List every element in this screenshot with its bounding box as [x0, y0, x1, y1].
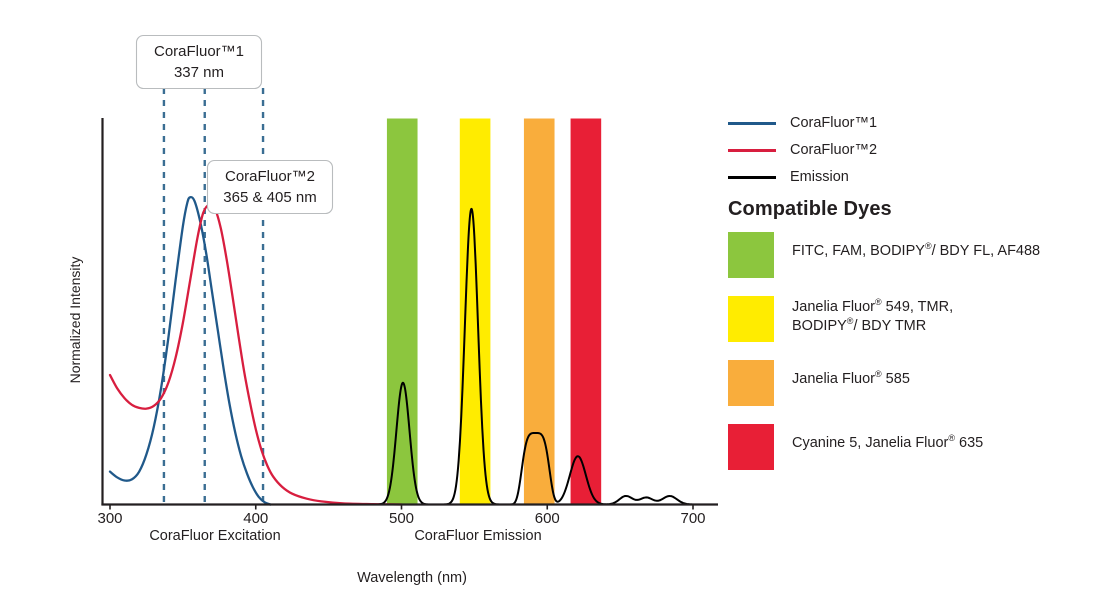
x-tick-label-700: 700 — [680, 510, 705, 527]
legend-item-0[interactable]: CoraFluor™1 — [728, 110, 1110, 137]
dye-item-label-line: Janelia Fluor® 585 — [792, 370, 910, 389]
callout-corafluor2-line2: 365 & 405 nm — [223, 189, 316, 206]
dye-item-label: FITC, FAM, BODIPY®/ BDY FL, AF488 — [792, 232, 1040, 261]
series-legend: CoraFluor™1CoraFluor™2Emission — [728, 110, 1110, 191]
callout-corafluor1-line2: 337 nm — [174, 64, 224, 81]
dye-item-2[interactable]: Janelia Fluor® 585 — [728, 360, 1110, 406]
x-axis-title: Wavelength (nm) — [357, 570, 467, 586]
legend-item-label: CoraFluor™2 — [790, 143, 877, 158]
callout-corafluor1: CoraFluor™1 337 nm — [137, 36, 262, 89]
dye-color-swatch — [728, 232, 774, 278]
spectra-chart: 300400500600700 CoraFluor Excitation Cor… — [0, 0, 730, 612]
dye-item-label-line: BODIPY®/ BDY TMR — [792, 317, 953, 336]
legend-item-2[interactable]: Emission — [728, 164, 1110, 191]
dye-item-label: Janelia Fluor® 585 — [792, 360, 910, 389]
chart-page: 300400500600700 CoraFluor Excitation Cor… — [0, 0, 1110, 612]
dye-color-swatch — [728, 296, 774, 342]
callout-corafluor2: CoraFluor™2 365 & 405 nm — [208, 161, 333, 214]
dye-item-label-line: FITC, FAM, BODIPY®/ BDY FL, AF488 — [792, 242, 1040, 261]
emission-range-label: CoraFluor Emission — [414, 528, 541, 544]
compatible-dyes-list: FITC, FAM, BODIPY®/ BDY FL, AF488Janelia… — [728, 232, 1110, 488]
x-tick-label-400: 400 — [243, 510, 268, 527]
dye-item-label: Janelia Fluor® 549, TMR,BODIPY®/ BDY TMR — [792, 296, 953, 335]
x-tick-label-500: 500 — [389, 510, 414, 527]
curve-corafluor2-excitation — [110, 205, 402, 505]
y-axis-title: Normalized Intensity — [67, 257, 83, 384]
chart-side-panel: CoraFluor™1CoraFluor™2Emission Compatibl… — [728, 0, 1110, 612]
compatible-dye-bands — [387, 119, 601, 505]
excitation-range-label: CoraFluor Excitation — [149, 528, 280, 544]
x-tick-label-300: 300 — [97, 510, 122, 527]
dye-color-swatch — [728, 360, 774, 406]
dye-color-swatch — [728, 424, 774, 470]
dye-item-label: Cyanine 5, Janelia Fluor® 635 — [792, 424, 983, 453]
callout-corafluor1-line1: CoraFluor™1 — [154, 43, 244, 60]
dye-item-label-line: Janelia Fluor® 549, TMR, — [792, 298, 953, 317]
legend-line-swatch-icon — [728, 149, 776, 152]
x-tick-label-600: 600 — [535, 510, 560, 527]
dye-item-3[interactable]: Cyanine 5, Janelia Fluor® 635 — [728, 424, 1110, 470]
dye-item-1[interactable]: Janelia Fluor® 549, TMR,BODIPY®/ BDY TMR — [728, 296, 1110, 342]
dye-item-label-line: Cyanine 5, Janelia Fluor® 635 — [792, 434, 983, 453]
legend-item-label: Emission — [790, 170, 849, 185]
x-axis-tick-labels: 300400500600700 — [97, 510, 705, 527]
callout-corafluor2-line1: CoraFluor™2 — [225, 168, 315, 185]
spectra-plot-svg: 300400500600700 CoraFluor Excitation Cor… — [0, 0, 730, 612]
yellow-band — [460, 119, 491, 505]
orange-band — [524, 119, 555, 505]
legend-item-1[interactable]: CoraFluor™2 — [728, 137, 1110, 164]
compatible-dyes-title: Compatible Dyes — [728, 198, 892, 221]
green-band — [387, 119, 418, 505]
legend-item-label: CoraFluor™1 — [790, 116, 877, 131]
red-band — [571, 119, 602, 505]
legend-line-swatch-icon — [728, 122, 776, 125]
legend-line-swatch-icon — [728, 176, 776, 179]
dye-item-0[interactable]: FITC, FAM, BODIPY®/ BDY FL, AF488 — [728, 232, 1110, 278]
curve-corafluor1-excitation — [110, 197, 270, 504]
